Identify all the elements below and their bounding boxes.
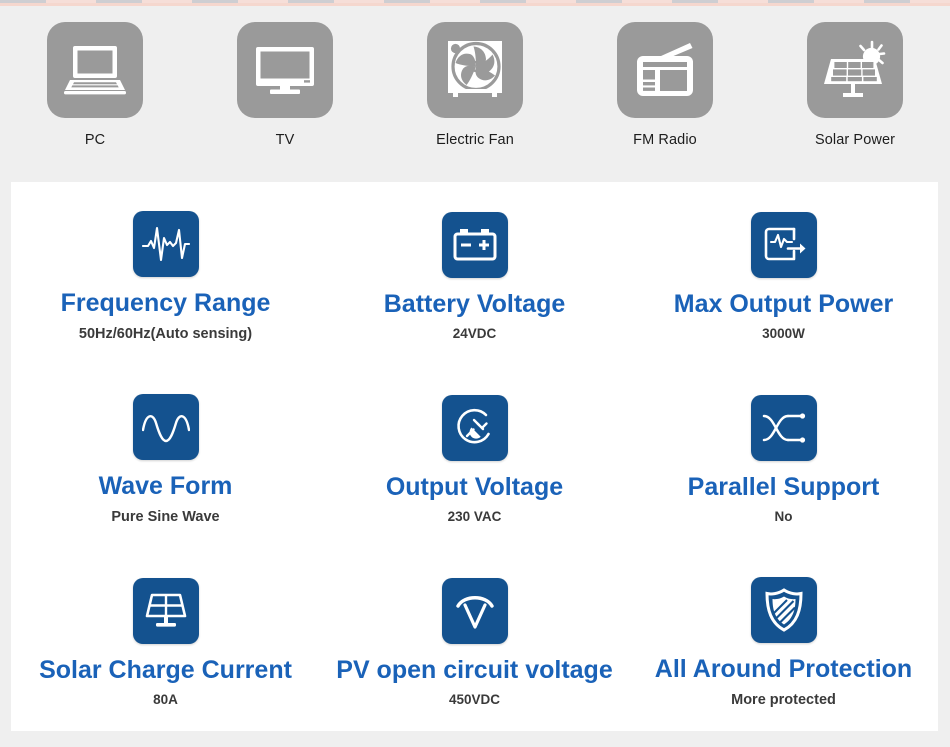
radio-icon xyxy=(617,22,713,118)
power-output-arrow-icon xyxy=(751,212,817,278)
appliance-item-electric-fan: Electric Fan xyxy=(380,22,570,162)
decorative-top-strip xyxy=(0,0,950,6)
appliance-label: Solar Power xyxy=(815,132,895,148)
spec-cell-solar-charge-current: Solar Charge Current 80A xyxy=(11,548,320,731)
parallel-cross-icon xyxy=(751,395,817,461)
spec-value: 50Hz/60Hz(Auto sensing) xyxy=(79,326,252,342)
spec-value: 24VDC xyxy=(453,326,497,341)
television-icon xyxy=(237,22,333,118)
appliance-label: Electric Fan xyxy=(436,132,514,148)
appliance-item-fm-radio: FM Radio xyxy=(570,22,760,162)
appliance-label: TV xyxy=(276,132,295,148)
spec-title: Parallel Support xyxy=(688,474,880,500)
appliance-label: FM Radio xyxy=(633,132,697,148)
spec-value: Pure Sine Wave xyxy=(111,509,219,525)
plug-circle-icon xyxy=(442,395,508,461)
spec-title: Wave Form xyxy=(99,473,233,499)
spec-cell-frequency-range: Frequency Range 50Hz/60Hz(Auto sensing) xyxy=(11,182,320,365)
spec-title: All Around Protection xyxy=(655,656,912,682)
specifications-panel: Frequency Range 50Hz/60Hz(Auto sensing) … xyxy=(11,182,938,731)
box-fan-icon xyxy=(427,22,523,118)
spec-value: 3000W xyxy=(762,326,805,341)
laptop-icon xyxy=(47,22,143,118)
spec-cell-battery-voltage: Battery Voltage 24VDC xyxy=(320,182,629,365)
spec-cell-all-around-protection: All Around Protection More protected xyxy=(629,548,938,731)
appliance-label: PC xyxy=(85,132,105,148)
spec-cell-wave-form: Wave Form Pure Sine Wave xyxy=(11,365,320,548)
spec-cell-max-output-power: Max Output Power 3000W xyxy=(629,182,938,365)
solar-panel-sun-icon xyxy=(807,22,903,118)
spec-title: Solar Charge Current xyxy=(39,657,292,683)
appliance-item-solar-power: Solar Power xyxy=(760,22,950,162)
spec-value: 230 VAC xyxy=(448,509,502,524)
spec-value: No xyxy=(775,509,793,524)
spec-value: More protected xyxy=(731,692,836,708)
car-battery-icon xyxy=(442,212,508,278)
sine-wave-icon xyxy=(133,394,199,460)
appliance-item-tv: TV xyxy=(190,22,380,162)
spec-title: Max Output Power xyxy=(674,291,893,317)
spec-cell-parallel-support: Parallel Support No xyxy=(629,365,938,548)
spec-title: Frequency Range xyxy=(61,290,271,316)
spec-cell-pv-open-circuit-voltage: PV open circuit voltage 450VDC xyxy=(320,548,629,731)
shield-icon xyxy=(751,577,817,643)
specifications-grid: Frequency Range 50Hz/60Hz(Auto sensing) … xyxy=(11,182,938,731)
spec-cell-output-voltage: Output Voltage 230 VAC xyxy=(320,365,629,548)
waveform-icon xyxy=(133,211,199,277)
spec-title: Output Voltage xyxy=(386,474,563,500)
voltmeter-v-icon xyxy=(442,578,508,644)
appliance-item-pc: PC xyxy=(0,22,190,162)
spec-title: Battery Voltage xyxy=(384,291,566,317)
solar-panel-icon xyxy=(133,578,199,644)
spec-value: 80A xyxy=(153,692,178,707)
spec-title: PV open circuit voltage xyxy=(336,657,612,683)
spec-value: 450VDC xyxy=(449,692,500,707)
appliance-row: PC TV xyxy=(0,22,950,162)
